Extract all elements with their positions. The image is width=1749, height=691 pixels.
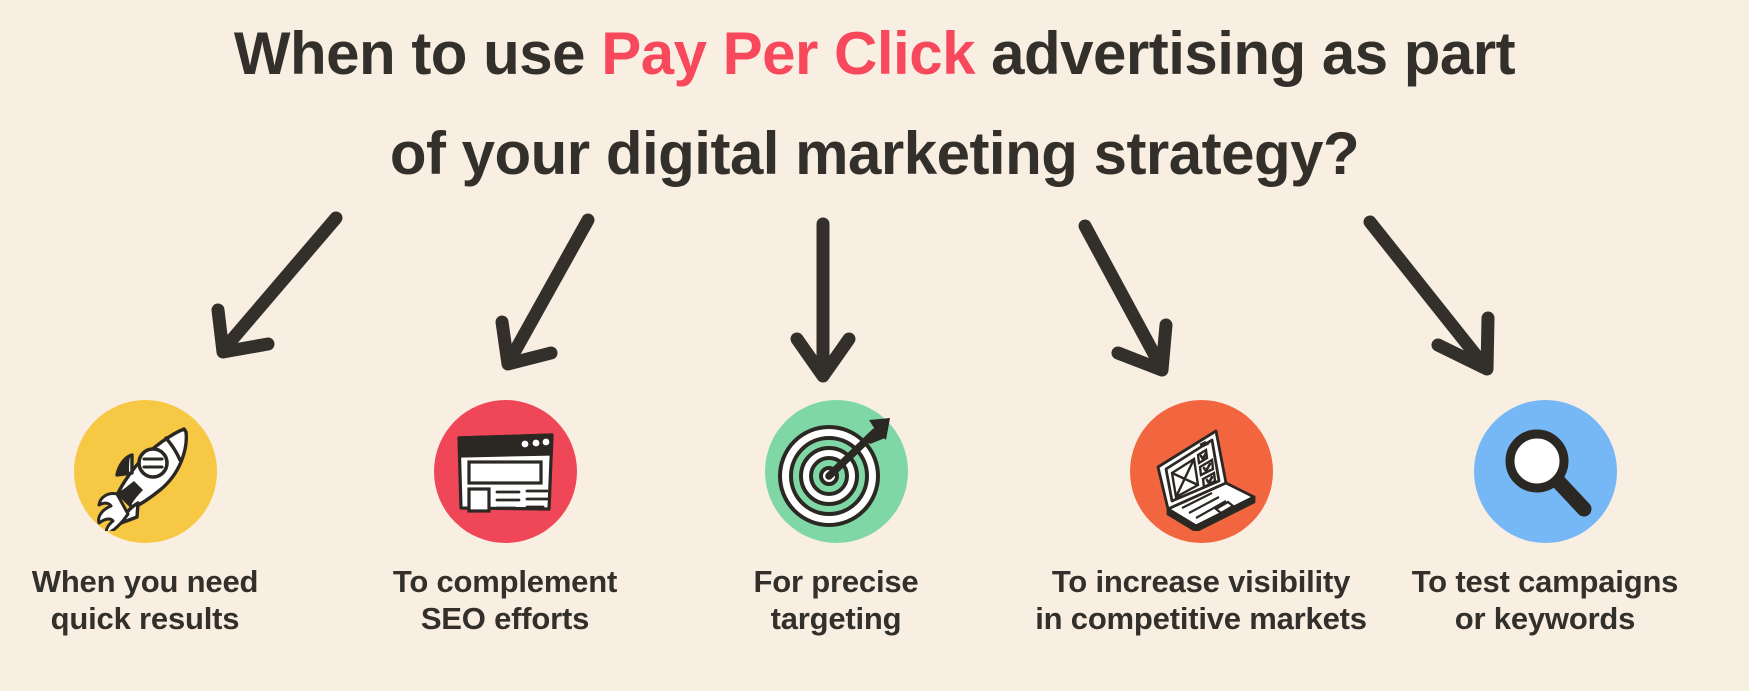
icon-badge-laptop <box>1130 400 1273 543</box>
icon-badge-target <box>765 400 908 543</box>
headline-line1-pre: When to use <box>234 20 601 87</box>
rocket-icon <box>86 413 204 531</box>
page-title: When to use Pay Per Click advertising as… <box>0 4 1749 204</box>
caption-quick-results: When you need quick results <box>0 563 325 637</box>
headline-line1-post: advertising as part <box>975 20 1515 87</box>
caption-competitive-visibility: To increase visibility in competitive ma… <box>1021 563 1381 637</box>
icon-badge-magnifier <box>1474 400 1617 543</box>
caption-seo-complement: To complement SEO efforts <box>325 563 685 637</box>
column-competitive-visibility: To increase visibility in competitive ma… <box>1021 400 1381 637</box>
arrow-down-left-1 <box>218 218 336 352</box>
column-seo-complement: To complement SEO efforts <box>325 400 685 637</box>
column-test-campaigns: To test campaigns or keywords <box>1365 400 1725 637</box>
infographic-canvas: When to use Pay Per Click advertising as… <box>0 0 1749 691</box>
arrow-down-right-5 <box>1370 222 1488 369</box>
arrow-down-left-2 <box>502 220 588 364</box>
column-quick-results: When you need quick results <box>0 400 325 637</box>
icon-badge-rocket <box>74 400 217 543</box>
column-precise-targeting: For precise targeting <box>656 400 1016 637</box>
arrow-down-right-4 <box>1085 226 1166 370</box>
laptop-checklist-icon <box>1142 413 1260 531</box>
browser-window-icon <box>449 416 561 528</box>
headline-accent-text: Pay Per Click <box>601 20 975 87</box>
target-arrow-icon <box>774 410 898 534</box>
icon-badge-browser <box>434 400 577 543</box>
headline-line-2: of your digital marketing strategy? <box>0 104 1749 204</box>
magnifying-glass-icon <box>1489 416 1601 528</box>
caption-test-campaigns: To test campaigns or keywords <box>1365 563 1725 637</box>
headline-line-1: When to use Pay Per Click advertising as… <box>0 4 1749 104</box>
columns-row: When you need quick results <box>0 400 1749 691</box>
caption-precise-targeting: For precise targeting <box>656 563 1016 637</box>
arrow-down-3 <box>797 224 849 376</box>
